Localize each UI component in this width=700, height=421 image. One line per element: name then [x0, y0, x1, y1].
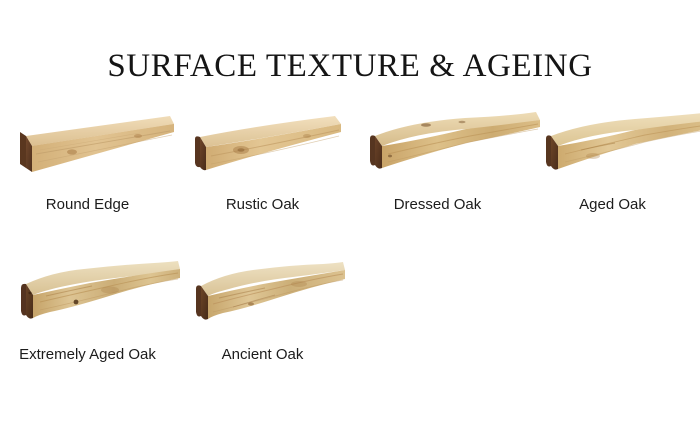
sample-label-aged-oak: Aged Oak — [525, 196, 700, 213]
page-title: SURFACE TEXTURE & AGEING — [0, 48, 700, 84]
beam-image-round-edge — [0, 100, 175, 195]
sample-grid: Round Edge — [0, 100, 700, 400]
sample-card-extremely-aged-oak[interactable]: Extremely Aged Oak — [0, 250, 175, 400]
beam-image-ancient-oak — [175, 250, 350, 345]
sample-card-dressed-oak[interactable]: Dressed Oak — [350, 100, 525, 250]
sample-card-aged-oak[interactable]: Aged Oak — [525, 100, 700, 250]
beam-image-aged-oak — [525, 100, 700, 195]
sample-row: Round Edge — [0, 100, 700, 250]
sample-label-dressed-oak: Dressed Oak — [350, 196, 525, 213]
sample-label-ancient-oak: Ancient Oak — [175, 346, 350, 363]
beam-image-rustic-oak — [175, 100, 350, 195]
sample-card-rustic-oak[interactable]: Rustic Oak — [175, 100, 350, 250]
sample-label-rustic-oak: Rustic Oak — [175, 196, 350, 213]
sample-card-round-edge[interactable]: Round Edge — [0, 100, 175, 250]
beam-image-dressed-oak — [350, 100, 525, 195]
sample-card-ancient-oak[interactable]: Ancient Oak — [175, 250, 350, 400]
sample-row: Extremely Aged Oak — [0, 250, 700, 400]
beam-image-extremely-aged-oak — [0, 250, 175, 345]
sample-label-round-edge: Round Edge — [0, 196, 175, 213]
sample-label-extremely-aged-oak: Extremely Aged Oak — [0, 346, 175, 363]
